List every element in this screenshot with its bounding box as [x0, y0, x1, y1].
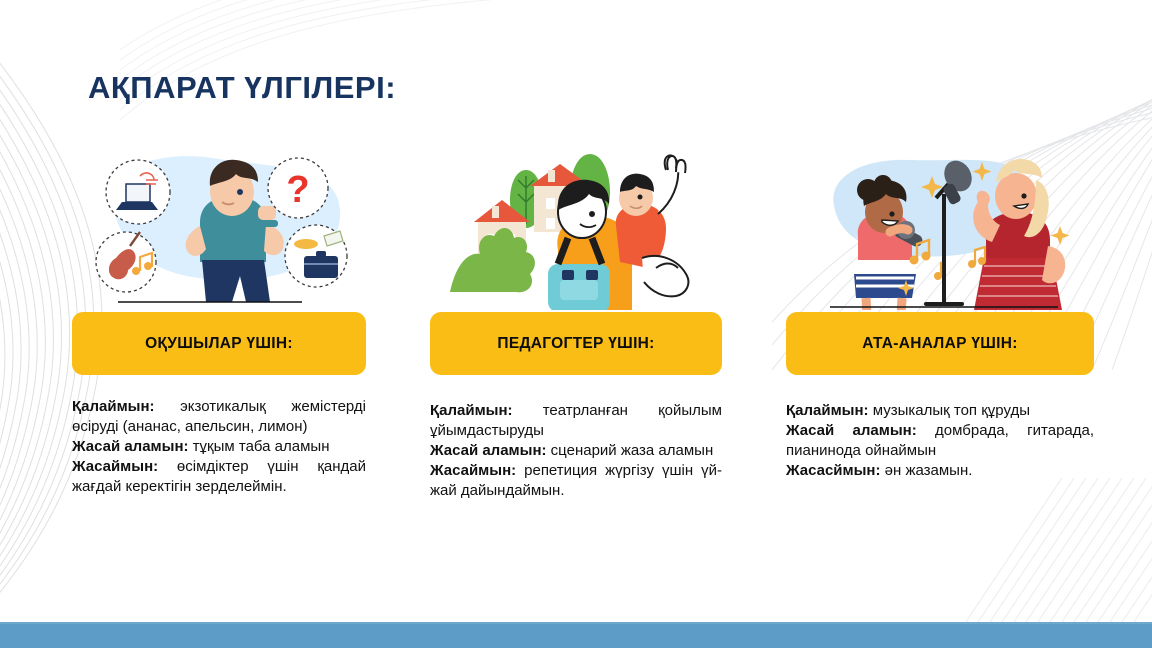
line-rest: музыкалық топ құруды	[869, 402, 1030, 419]
banner-parents[interactable]: АТА-АНАЛАР ҮШІН:	[786, 312, 1094, 375]
body-line: Жасай аламын: сценарий жаза аламын	[430, 441, 722, 461]
body-teachers: Қалаймын: театрланған қойылым ұйымдастыр…	[430, 401, 722, 501]
line-rest: сценарий жаза аламын	[547, 442, 714, 459]
body-line: Қалаймын: музыкалық топ құруды	[786, 401, 1094, 421]
line-lead: Жасай аламын:	[72, 438, 189, 455]
banner-teachers-label: ПЕДАГОГТЕР ҮШІН:	[497, 335, 654, 353]
card-parents: АТА-АНАЛАР ҮШІН: Қалаймын: музыкалық топ…	[786, 140, 1094, 481]
footer-bar-highlight	[0, 622, 1152, 624]
banner-students[interactable]: ОҚУШЫЛАР ҮШІН:	[72, 312, 366, 375]
footer-bar	[0, 622, 1152, 648]
line-lead: Қалаймын:	[786, 402, 869, 419]
banner-students-label: ОҚУШЫЛАР ҮШІН:	[145, 335, 293, 353]
line-lead: Жасай аламын:	[430, 442, 547, 459]
card-students: ? ОҚУШЫЛАР ҮШІН:	[72, 140, 366, 497]
body-line: Жасай аламын: домбрада, гитарада, пианин…	[786, 421, 1094, 461]
body-parents: Қалаймын: музыкалық топ құруды Жасай ала…	[786, 401, 1094, 481]
line-lead: Қалаймын:	[430, 402, 513, 419]
body-line: Қалаймын: театрланған қойылым ұйымдастыр…	[430, 401, 722, 441]
slide-canvas: АҚПАРАТ ҮЛГІЛЕРІ:	[0, 0, 1152, 648]
line-lead: Жасаймын:	[430, 462, 516, 479]
body-line: Жасаймын: репетиция жүргізу үшін үй-жай …	[430, 461, 722, 501]
line-lead: Жасаймын:	[72, 458, 158, 475]
parent-carrying-child-illustration	[430, 140, 722, 310]
line-lead: Қалаймын:	[72, 398, 155, 415]
thinking-student-illustration: ?	[72, 140, 366, 310]
page-title: АҚПАРАТ ҮЛГІЛЕРІ:	[88, 70, 396, 106]
card-teachers: ПЕДАГОГТЕР ҮШІН: Қалаймын: театрланған қ…	[430, 140, 722, 501]
line-lead: Жасасймын:	[786, 462, 880, 479]
svg-text:?: ?	[286, 169, 309, 211]
body-line: Жасаймын: өсімдіктер үшін қандай жағдай …	[72, 457, 366, 497]
body-students: Қалаймын: экзотикалық жемістерді өсіруді…	[72, 397, 366, 497]
line-rest: тұқым таба аламын	[189, 438, 330, 455]
body-line: Жасасймын: ән жазамын.	[786, 461, 1094, 481]
line-lead: Жасай аламын:	[786, 422, 917, 439]
banner-parents-label: АТА-АНАЛАР ҮШІН:	[862, 335, 1017, 353]
singing-duo-illustration	[786, 140, 1094, 310]
banner-teachers[interactable]: ПЕДАГОГТЕР ҮШІН:	[430, 312, 722, 375]
body-line: Жасай аламын: тұқым таба аламын	[72, 437, 366, 457]
line-rest: ән жазамын.	[880, 462, 972, 479]
body-line: Қалаймын: экзотикалық жемістерді өсіруді…	[72, 397, 366, 437]
